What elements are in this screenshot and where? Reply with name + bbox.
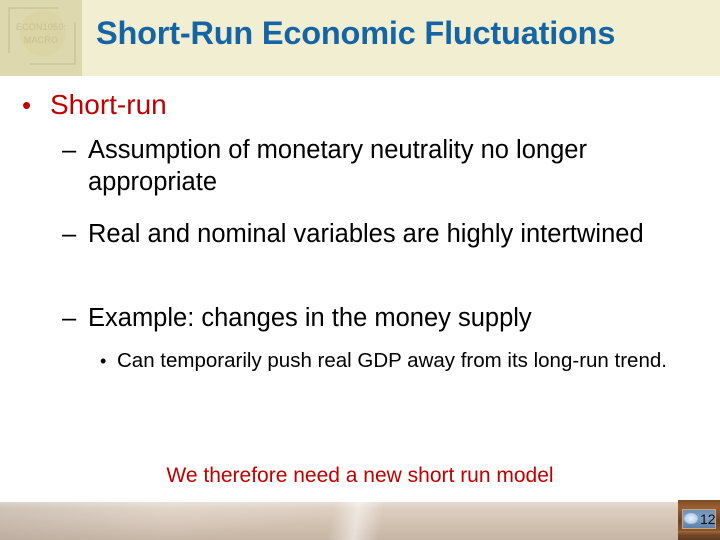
television-shelf bbox=[678, 531, 720, 536]
bullet-level1-label: Short-run bbox=[50, 89, 167, 120]
dash-glyph-icon: – bbox=[62, 302, 88, 334]
dash-glyph-icon: – bbox=[62, 134, 88, 166]
bullet-level2-label-3: Example: changes in the money supply bbox=[88, 302, 710, 334]
dash-glyph-icon: – bbox=[62, 218, 88, 250]
course-logo-line2: MACRO bbox=[0, 34, 82, 47]
footer-seam bbox=[0, 502, 720, 540]
television-glow bbox=[684, 513, 698, 524]
slide-body: •Short-run – Assumption of monetary neut… bbox=[0, 76, 720, 500]
bullet-level3-item-1: • Can temporarily push real GDP away fro… bbox=[100, 348, 708, 374]
course-logo-text: ECON1050: MACRO bbox=[0, 21, 82, 46]
closing-note: We therefore need a new short run model bbox=[0, 463, 720, 489]
bullet-glyph-icon: • bbox=[22, 88, 50, 122]
dot-glyph-icon: • bbox=[100, 348, 117, 374]
slide-canvas: ECON1050: MACRO Short-Run Economic Fluct… bbox=[0, 0, 720, 540]
bullet-level2-label-1: Assumption of monetary neutrality no lon… bbox=[88, 134, 710, 198]
slide-header-band: ECON1050: MACRO Short-Run Economic Fluct… bbox=[0, 0, 720, 76]
bullet-level1-short-run: •Short-run bbox=[22, 88, 702, 122]
course-logo: ECON1050: MACRO bbox=[0, 0, 82, 76]
slide-number: 12 bbox=[700, 511, 716, 527]
course-logo-line1: ECON1050: bbox=[16, 22, 66, 32]
bullet-level2-item-2: – Real and nominal variables are highly … bbox=[62, 218, 710, 250]
bullet-level2-item-1: – Assumption of monetary neutrality no l… bbox=[62, 134, 710, 198]
slide-number-thumbnail: 12 bbox=[678, 500, 720, 540]
bullet-level2-label-2: Real and nominal variables are highly in… bbox=[88, 218, 710, 250]
bullet-level3-label-1: Can temporarily push real GDP away from … bbox=[117, 348, 708, 374]
bullet-level2-item-3: – Example: changes in the money supply bbox=[62, 302, 710, 334]
footer-photo-strip bbox=[0, 502, 720, 540]
page-title: Short-Run Economic Fluctuations bbox=[96, 14, 712, 52]
